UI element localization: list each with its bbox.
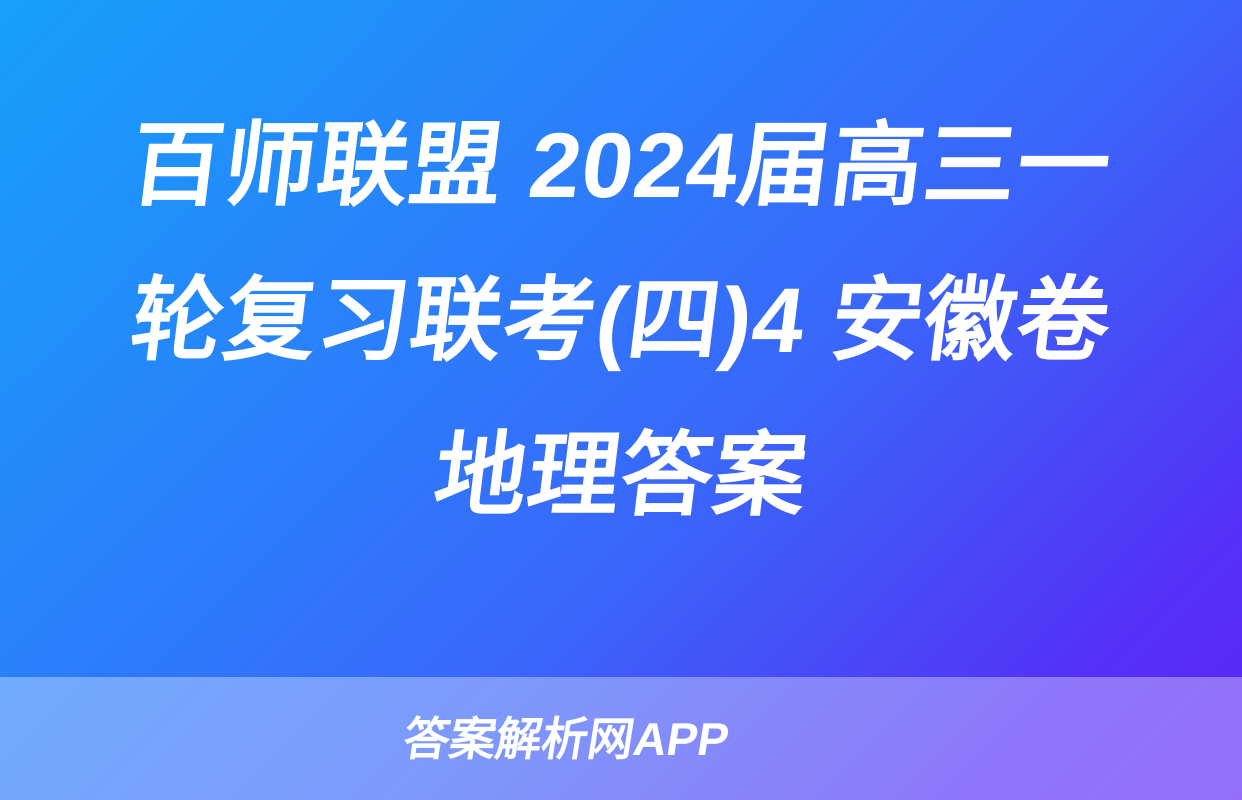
answer-card: 百师联盟 2024届高三一 轮复习联考(四)4 安徽卷 地理答案 答案解析网AP… [0, 0, 1242, 800]
title-line-2: 轮复习联考(四)4 安徽卷 [64, 244, 1177, 399]
watermark-banner: 答案解析网APP [0, 677, 1242, 800]
watermark-text: 答案解析网APP [400, 716, 732, 762]
title-line-3: 地理答案 [64, 399, 1177, 554]
title-line-1: 百师联盟 2024届高三一 [64, 89, 1177, 244]
title-block: 百师联盟 2024届高三一 轮复习联考(四)4 安徽卷 地理答案 [0, 0, 1242, 677]
